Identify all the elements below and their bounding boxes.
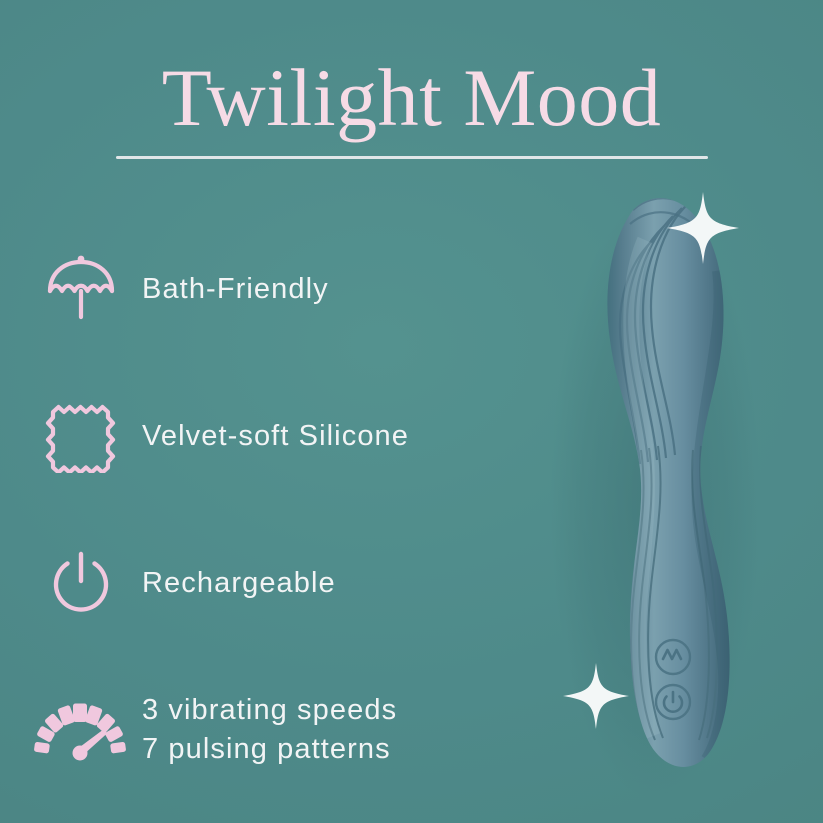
umbrella-icon — [44, 252, 118, 326]
feature-item-velvet-soft-silicone: Velvet-soft Silicone — [0, 362, 480, 509]
product-image — [515, 150, 815, 810]
fabric-swatch-icon — [44, 399, 118, 473]
wand-vibrator-illustration — [515, 150, 815, 810]
power-icon — [44, 546, 118, 620]
speed-gauge-icon — [30, 699, 130, 761]
feature-label: Rechargeable — [142, 564, 336, 602]
sparkle-bottom — [563, 663, 629, 729]
feature-item-speeds-patterns: 3 vibrating speeds 7 pulsing patterns — [0, 656, 480, 803]
feature-label: 3 vibrating speeds 7 pulsing patterns — [142, 691, 397, 769]
page-title: Twilight Mood — [0, 52, 823, 144]
sparkle-top — [667, 192, 739, 264]
feature-label: Velvet-soft Silicone — [142, 417, 409, 455]
feature-item-bath-friendly: Bath-Friendly — [0, 215, 480, 362]
feature-list: Bath-Friendly Velvet-soft Silicone Recha… — [0, 215, 480, 803]
feature-item-rechargeable: Rechargeable — [0, 509, 480, 656]
product-feature-graphic: Twilight Mood Bath-Friendly Velvet-soft … — [0, 0, 823, 823]
feature-label: Bath-Friendly — [142, 270, 329, 308]
